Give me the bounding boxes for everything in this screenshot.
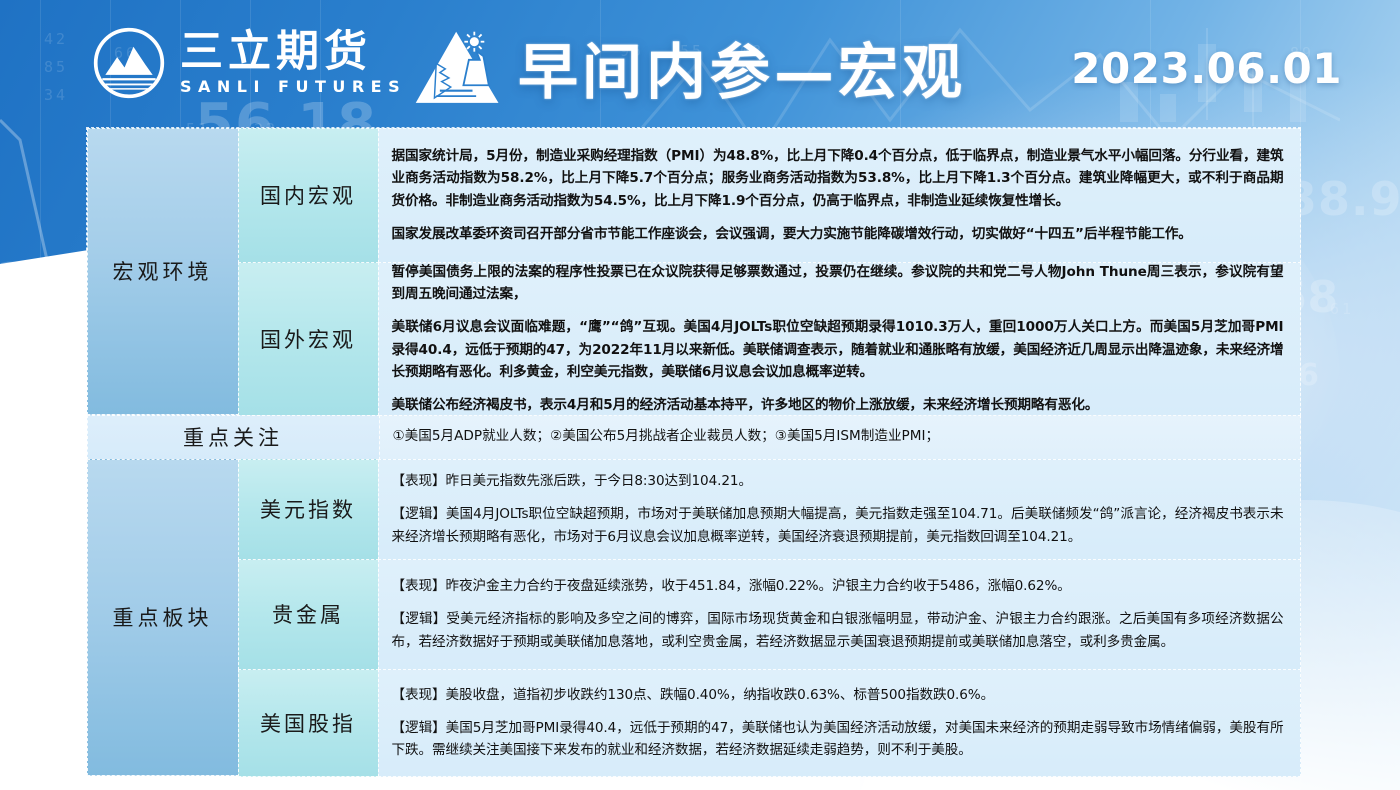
subcategory-usd-index: 美元指数 (238, 459, 379, 560)
macro-group: 宏观环境 国内宏观 据国家统计局，5月份，制造业采购经理指数（PMI）为48.8… (87, 128, 1300, 415)
mountain-sun-icon (412, 29, 504, 107)
category-label: 宏观环境 (113, 256, 213, 286)
brand-name-en: SANLI FUTURES (180, 77, 406, 96)
table-row-overseas-macro: 国外宏观 暂停美国债务上限的法案的程序性投票已在众议院获得足够票数通过，投票仍在… (238, 262, 1300, 415)
title-block: 早间内参—宏观 (412, 24, 966, 111)
report-table: 宏观环境 国内宏观 据国家统计局，5月份，制造业采购经理指数（PMI）为48.8… (86, 127, 1301, 777)
page-title: 早间内参—宏观 (518, 24, 966, 111)
category-label: 重点板块 (113, 602, 213, 632)
subcategory-label: 贵金属 (272, 599, 344, 629)
mountain-circle-logo-icon (92, 26, 166, 100)
subcategory-label: 国外宏观 (260, 324, 356, 354)
category-key-sectors: 重点板块 (87, 459, 239, 776)
paragraph: 【逻辑】美国4月JOLTs职位空缺超预期，市场对于美联储加息预期大幅提高，美元指… (392, 503, 1284, 547)
paragraph: 暂停美国债务上限的法案的程序性投票已在众议院获得足够票数通过，投票仍在继续。参议… (392, 261, 1284, 305)
category-key-focus: 重点关注 (87, 415, 380, 460)
paragraph: 【表现】美股收盘，道指初步收跌约130点、跌幅0.40%，纳指收跌0.63%、标… (392, 684, 1284, 706)
subcategory-domestic-macro: 国内宏观 (238, 128, 379, 263)
paragraph: 美联储公布经济褐皮书，表示4月和5月的经济活动基本持平，许多地区的物价上涨放缓，… (392, 394, 1284, 416)
report-date: 2023.06.01 (1071, 44, 1342, 93)
table-row-precious-metals: 贵金属 【表现】昨夜沪金主力合约于夜盘延续涨势，收于451.84，涨幅0.22%… (238, 559, 1300, 669)
content-overseas-macro: 暂停美国债务上限的法案的程序性投票已在众议院获得足够票数通过，投票仍在继续。参议… (378, 262, 1301, 416)
table-row-us-equity: 美国股指 【表现】美股收盘，道指初步收跌约130点、跌幅0.40%，纳指收跌0.… (238, 669, 1300, 776)
paragraph: 【逻辑】受美元经济指标的影响及多空之间的博弈，国际市场现货黄金和白银涨幅明显，带… (392, 608, 1284, 652)
brand-name-cn: 三立期货 (180, 30, 406, 75)
paragraph: 【表现】昨夜沪金主力合约于夜盘延续涨势，收于451.84，涨幅0.22%。沪银主… (392, 575, 1284, 597)
content-domestic-macro: 据国家统计局，5月份，制造业采购经理指数（PMI）为48.8%，比上月下降0.4… (378, 128, 1301, 263)
subcategory-label: 国内宏观 (260, 180, 356, 210)
table-row-key-focus: 重点关注 ①美国5月ADP就业人数；②美国公布5月挑战者企业裁员人数；③美国5月… (87, 415, 1300, 459)
subcategory-precious-metals: 贵金属 (238, 559, 379, 670)
page-header: 三立期货 SANLI FUTURES 早间内参—宏观 2023.06.01 (0, 0, 1400, 122)
subcategory-overseas-macro: 国外宏观 (238, 262, 379, 416)
paragraph: ①美国5月ADP就业人数；②美国公布5月挑战者企业裁员人数；③美国5月ISM制造… (393, 426, 940, 448)
table-row-usd-index: 美元指数 【表现】昨日美元指数先涨后跌，于今日8:30达到104.21。 【逻辑… (238, 459, 1300, 559)
category-label: 重点关注 (183, 422, 283, 452)
subcategory-label: 美元指数 (260, 494, 356, 524)
table-row-domestic-macro: 国内宏观 据国家统计局，5月份，制造业采购经理指数（PMI）为48.8%，比上月… (238, 128, 1300, 262)
paragraph: 美联储6月议息会议面临难题，“鹰”“鸽”互现。美国4月JOLTs职位空缺超预期录… (392, 316, 1284, 382)
paragraph: 【表现】昨日美元指数先涨后跌，于今日8:30达到104.21。 (392, 470, 1284, 492)
content-usd-index: 【表现】昨日美元指数先涨后跌，于今日8:30达到104.21。 【逻辑】美国4月… (378, 459, 1301, 560)
subcategory-us-equity: 美国股指 (238, 669, 379, 777)
brand-logo: 三立期货 SANLI FUTURES (92, 26, 406, 100)
content-us-equity: 【表现】美股收盘，道指初步收跌约130点、跌幅0.40%，纳指收跌0.63%、标… (378, 669, 1301, 777)
bg-small-figure: 61 (1330, 300, 1354, 318)
category-macro-environment: 宏观环境 (87, 128, 239, 415)
content-key-focus: ①美国5月ADP就业人数；②美国公布5月挑战者企业裁员人数；③美国5月ISM制造… (379, 415, 1301, 460)
subcategory-label: 美国股指 (260, 708, 356, 738)
paragraph: 国家发展改革委环资司召开部分省市节能工作座谈会，会议强调，要大力实施节能降碳增效… (392, 223, 1284, 245)
content-precious-metals: 【表现】昨夜沪金主力合约于夜盘延续涨势，收于451.84，涨幅0.22%。沪银主… (378, 559, 1301, 670)
paragraph: 【逻辑】美国5月芝加哥PMI录得40.4，远低于预期的47，美联储也认为美国经济… (392, 717, 1284, 761)
paragraph: 据国家统计局，5月份，制造业采购经理指数（PMI）为48.8%，比上月下降0.4… (392, 145, 1284, 211)
sector-group: 重点板块 美元指数 【表现】昨日美元指数先涨后跌，于今日8:30达到104.21… (87, 459, 1300, 776)
